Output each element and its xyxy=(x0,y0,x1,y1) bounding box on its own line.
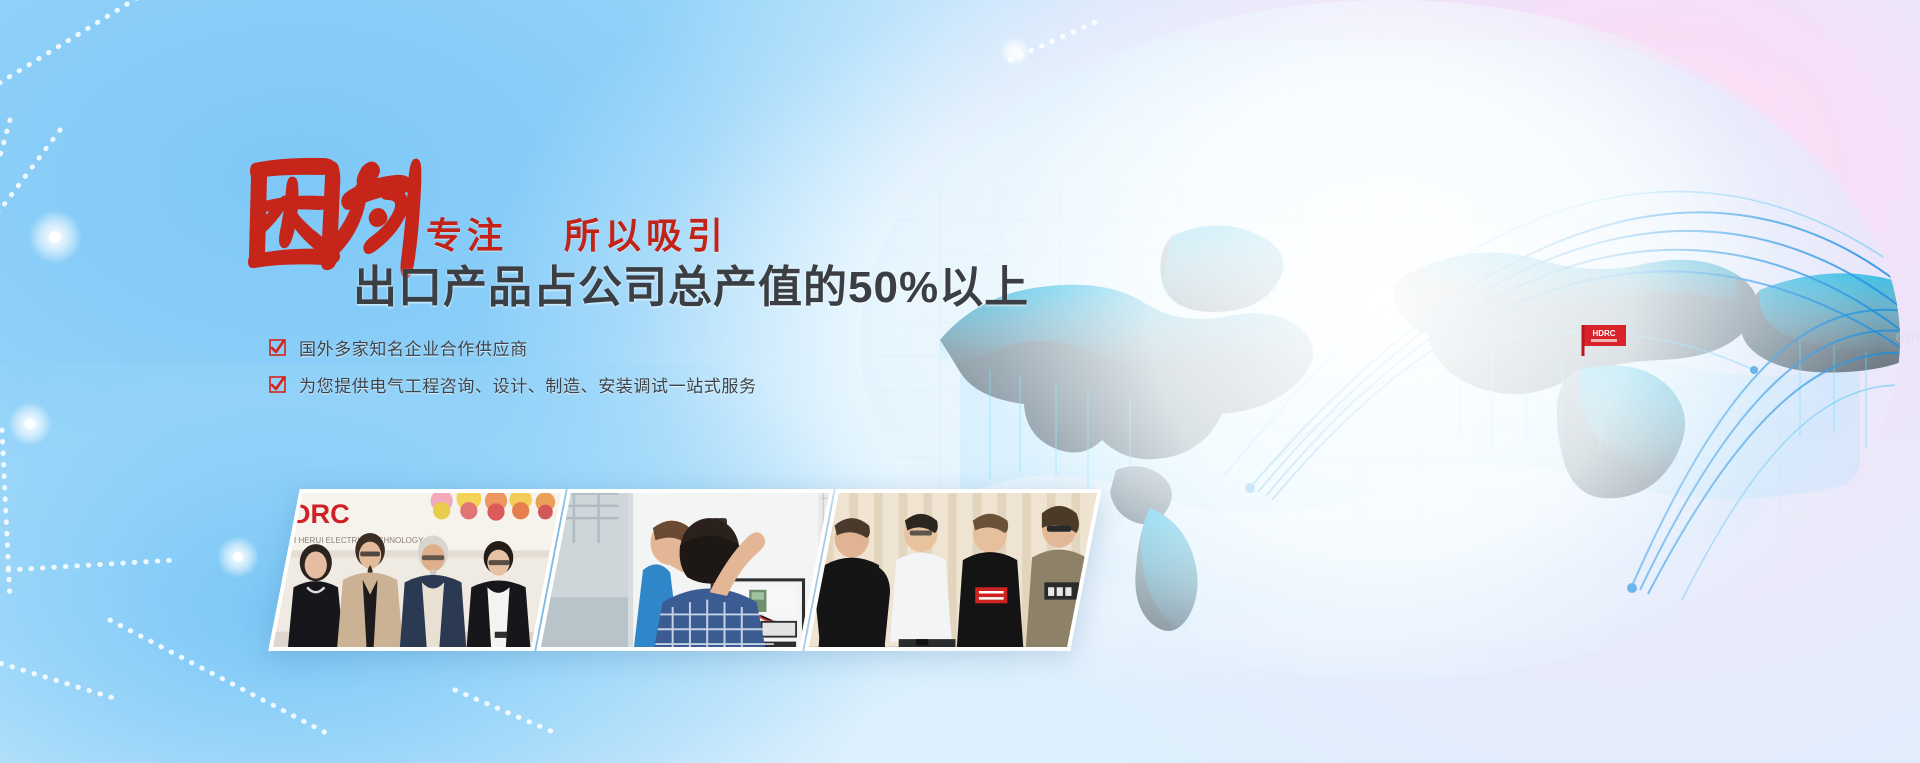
backdrop-logo-text: HDRC xyxy=(271,498,349,529)
backdrop-sub-text: ANHUI HERUI ELECTRIC TECHNOLOGY CO xyxy=(271,536,437,545)
photo-team-outdoor[interactable] xyxy=(804,489,1101,651)
flag-label: HDRC xyxy=(1592,329,1615,338)
slogan-right: 所以吸引 xyxy=(564,215,728,256)
page-title: 出口产品占公司总产值的50%以上 xyxy=(353,251,1029,315)
photo-technicians-cabinet[interactable] xyxy=(536,489,833,651)
list-item: 为您提供电气工程咨询、设计、制造、安装调试一站式服务 xyxy=(269,372,757,397)
list-item: 国外多家知名企业合作供应商 xyxy=(269,335,757,360)
feature-bullet-list: 国外多家知名企业合作供应商 为您提供电气工程咨询、设计、制造、安装调试一站式服务 xyxy=(269,335,757,409)
photo-group-backdrop[interactable]: HDRC ANHUI HERUI ELECTRIC TECHNOLOGY CO xyxy=(268,489,565,651)
photo-strip: HDRC ANHUI HERUI ELECTRIC TECHNOLOGY CO xyxy=(284,489,1086,651)
red-flag-icon: HDRC xyxy=(1578,323,1628,356)
banner-copy-block: 专注 所以吸引 出口产品占公司总产值的50%以上 国外多家知名企业合作供应商 为… xyxy=(236,155,996,279)
check-box-icon xyxy=(269,376,286,393)
check-box-icon xyxy=(269,339,286,356)
slogan-left: 专注 xyxy=(426,215,508,256)
promo-banner: ion employees of multiple nationalities … xyxy=(0,0,1920,763)
bullet-text: 为您提供电气工程咨询、设计、制造、安装调试一站式服务 xyxy=(299,372,757,397)
bullet-text: 国外多家知名企业合作供应商 xyxy=(299,335,528,360)
background-wash-top-right xyxy=(1180,0,1920,440)
ghost-text-line2: employees of multiple nationalities xyxy=(1895,327,1920,347)
